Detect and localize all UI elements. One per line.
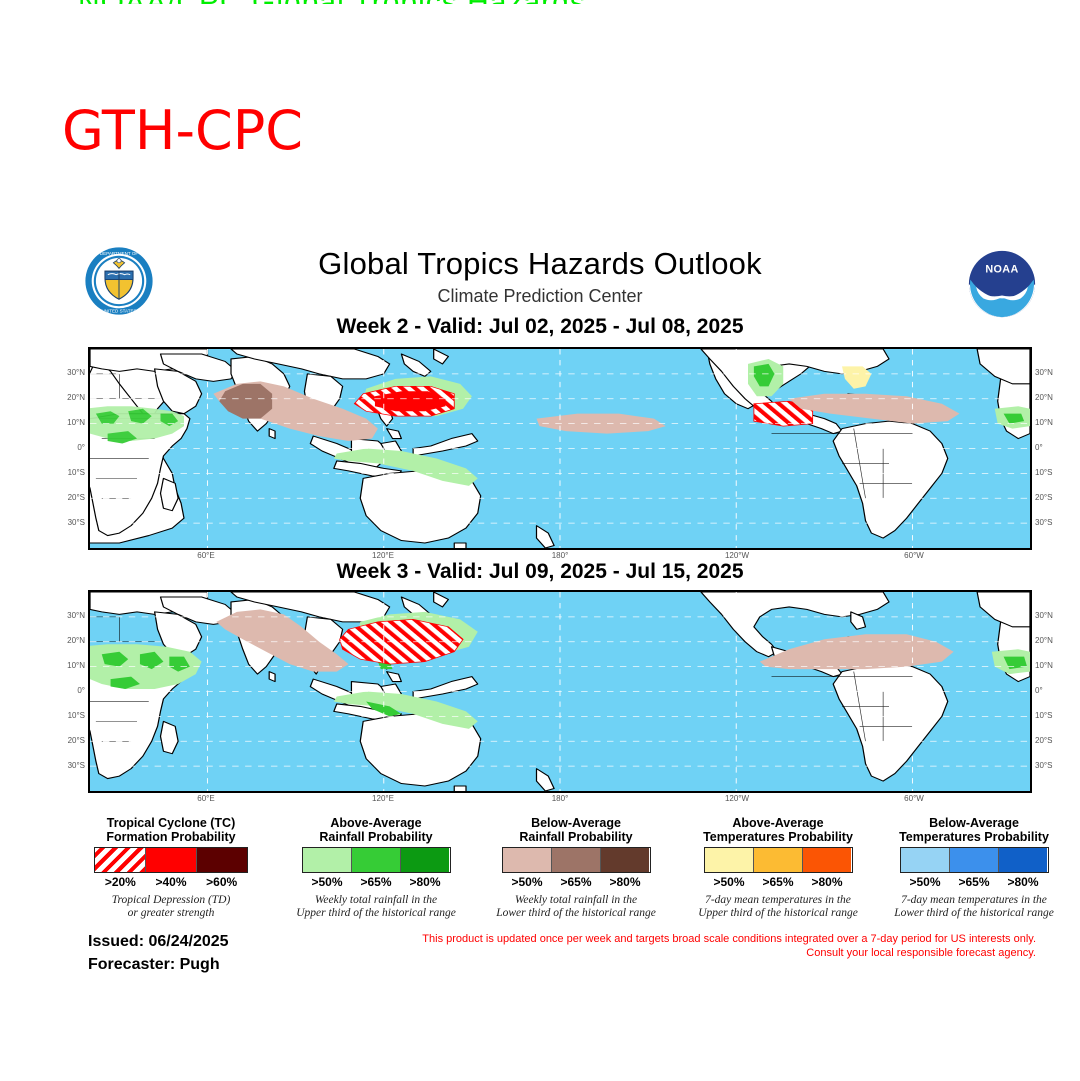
lon-label: 60°E xyxy=(197,551,214,560)
product-header: DEPARTMENT OF UNITED STATES Global Tropi… xyxy=(0,236,1080,341)
lat-label: 0° xyxy=(77,686,85,695)
legend-title-line2: Rainfall Probability xyxy=(268,830,484,844)
lat-label: 0° xyxy=(1035,686,1043,695)
svg-text:UNITED STATES: UNITED STATES xyxy=(101,309,136,314)
legend-title-line2: Rainfall Probability xyxy=(468,830,684,844)
legend-item-below-rainfall: Below-Average Rainfall Probability >50% … xyxy=(468,816,684,920)
week2-lat-labels-left: 30°N 20°N 10°N 0° 10°S 20°S 30°S xyxy=(60,347,86,550)
legend-colorbar-tc xyxy=(94,847,248,873)
lon-label: 60°W xyxy=(904,794,924,803)
legend-title-line1: Above-Average xyxy=(268,816,484,830)
issued-date: Issued: 06/24/2025 xyxy=(88,930,229,953)
legend-note-line1: Weekly total rainfall in the xyxy=(468,894,684,907)
legend-tick: >80% xyxy=(601,875,650,889)
lat-label: 0° xyxy=(77,443,85,452)
week3-lat-labels-left: 30°N 20°N 10°N 0° 10°S 20°S 30°S xyxy=(60,590,86,793)
week3-lat-labels-right: 30°N 20°N 10°N 0° 10°S 20°S 30°S xyxy=(1034,590,1064,793)
lat-label: 30°N xyxy=(1035,611,1053,620)
week2-panel-title: Week 2 - Valid: Jul 02, 2025 - Jul 08, 2… xyxy=(0,315,1080,339)
legend-tick: >50% xyxy=(303,875,352,889)
lat-label: 20°S xyxy=(68,736,85,745)
legend-ticks-below-rain: >50% >65% >80% xyxy=(503,875,650,889)
legend-swatch-rain-below-50 xyxy=(503,848,552,872)
week3-panel-title: Week 3 - Valid: Jul 09, 2025 - Jul 15, 2… xyxy=(0,560,1080,584)
legend-tick: >80% xyxy=(401,875,450,889)
noaa-logo-text: NOAA xyxy=(985,263,1018,275)
week3-map: 30°N 20°N 10°N 0° 10°S 20°S 30°S 30°N 20… xyxy=(88,590,1032,793)
legend-tick: >80% xyxy=(999,875,1048,889)
legend-tick: >65% xyxy=(950,875,999,889)
week3-map-canvas xyxy=(90,592,1030,791)
legend-tick: >20% xyxy=(95,875,146,889)
legend-swatch-rain-below-65 xyxy=(552,848,601,872)
legend-item-below-temperatures: Below-Average Temperatures Probability >… xyxy=(856,816,1080,920)
legend-tick: >60% xyxy=(196,875,247,889)
lat-label: 10°N xyxy=(67,418,85,427)
lat-label: 30°N xyxy=(67,368,85,377)
lat-label: 10°S xyxy=(1035,468,1052,477)
page-subtitle: Climate Prediction Center xyxy=(0,286,1080,307)
lat-label: 20°S xyxy=(1035,736,1052,745)
legend-tick: >50% xyxy=(901,875,950,889)
legend-tick: >65% xyxy=(352,875,401,889)
disclaimer: This product is updated once per week an… xyxy=(416,932,1036,960)
lat-label: 20°N xyxy=(1035,393,1053,402)
lat-label: 20°S xyxy=(68,493,85,502)
lat-label: 20°N xyxy=(67,393,85,402)
legend-colorbar-below-rain xyxy=(502,847,651,873)
legend-note-line1: 7-day mean temperatures in the xyxy=(856,894,1080,907)
week2-map-frame xyxy=(88,347,1032,550)
legend-note-line2: Upper third of the historical range xyxy=(268,907,484,920)
week3-lon-labels: 60°E 120°E 180° 120°W 60°W xyxy=(88,794,1032,808)
legend-swatch-rain-above-50 xyxy=(303,848,352,872)
legend-title-line1: Below-Average xyxy=(856,816,1080,830)
legend-note-line2: or greater strength xyxy=(78,907,264,920)
lon-label: 120°E xyxy=(372,551,394,560)
legend-ticks-above-temp: >50% >65% >80% xyxy=(705,875,852,889)
legend-note-line1: Weekly total rainfall in the xyxy=(268,894,484,907)
legend-tick: >50% xyxy=(503,875,552,889)
legend-swatch-temp-below-50 xyxy=(901,848,950,872)
forecaster-name: Forecaster: Pugh xyxy=(88,953,229,976)
legend-note-line2: Lower third of the historical range xyxy=(468,907,684,920)
legend-item-above-rainfall: Above-Average Rainfall Probability >50% … xyxy=(268,816,484,920)
lon-label: 60°W xyxy=(904,551,924,560)
lat-label: 10°S xyxy=(68,468,85,477)
noaa-logo-icon: NOAA xyxy=(966,248,1038,320)
lon-label: 120°W xyxy=(725,794,749,803)
lat-label: 10°S xyxy=(68,711,85,720)
legend-title-line1: Below-Average xyxy=(468,816,684,830)
legend-tick: >65% xyxy=(552,875,601,889)
footer: Issued: 06/24/2025 Forecaster: Pugh This… xyxy=(0,930,1080,996)
legend: Tropical Cyclone (TC) Formation Probabil… xyxy=(0,816,1080,926)
lat-label: 30°S xyxy=(68,761,85,770)
top-green-banner: NOAA/CPC Global Tropics Hazards Outlook xyxy=(78,0,588,4)
legend-title-line2: Temperatures Probability xyxy=(856,830,1080,844)
lon-label: 120°E xyxy=(372,794,394,803)
legend-swatch-temp-below-80 xyxy=(999,848,1047,872)
issued-block: Issued: 06/24/2025 Forecaster: Pugh xyxy=(88,930,229,976)
lat-label: 10°N xyxy=(67,661,85,670)
lon-label: 60°E xyxy=(197,794,214,803)
gth-cpc-heading: GTH-CPC xyxy=(62,104,303,158)
legend-tick: >40% xyxy=(146,875,197,889)
lat-label: 0° xyxy=(1035,443,1043,452)
lat-label: 30°N xyxy=(1035,368,1053,377)
lat-label: 20°S xyxy=(1035,493,1052,502)
legend-item-tc-formation: Tropical Cyclone (TC) Formation Probabil… xyxy=(78,816,264,920)
legend-tick: >50% xyxy=(705,875,754,889)
legend-swatch-temp-below-65 xyxy=(950,848,999,872)
lat-label: 10°N xyxy=(1035,661,1053,670)
lat-label: 30°S xyxy=(68,518,85,527)
legend-note-line1: Tropical Depression (TD) xyxy=(78,894,264,907)
lat-label: 30°S xyxy=(1035,761,1052,770)
legend-ticks-tc: >20% >40% >60% xyxy=(95,875,247,889)
legend-swatch-temp-above-65 xyxy=(754,848,803,872)
lon-label: 120°W xyxy=(725,551,749,560)
legend-ticks-below-temp: >50% >65% >80% xyxy=(901,875,1048,889)
lon-label: 180° xyxy=(552,551,569,560)
legend-title-line1: Tropical Cyclone (TC) xyxy=(78,816,264,830)
legend-swatch-temp-above-50 xyxy=(705,848,754,872)
legend-swatch-tc-40 xyxy=(146,848,197,872)
legend-ticks-above-rain: >50% >65% >80% xyxy=(303,875,450,889)
lat-label: 30°N xyxy=(67,611,85,620)
lon-label: 180° xyxy=(552,794,569,803)
lat-label: 10°N xyxy=(1035,418,1053,427)
legend-swatch-rain-above-80 xyxy=(401,848,449,872)
outlook-product-graphic: DEPARTMENT OF UNITED STATES Global Tropi… xyxy=(0,236,1080,996)
lat-label: 20°N xyxy=(67,636,85,645)
week2-map-canvas xyxy=(90,349,1030,548)
disclaimer-line-2: Consult your local responsible forecast … xyxy=(416,946,1036,960)
lat-label: 30°S xyxy=(1035,518,1052,527)
lat-label: 10°S xyxy=(1035,711,1052,720)
legend-swatch-tc-60 xyxy=(197,848,247,872)
legend-tick: >80% xyxy=(803,875,852,889)
week2-map: 30°N 20°N 10°N 0° 10°S 20°S 30°S 30°N 20… xyxy=(88,347,1032,550)
week2-lat-labels-right: 30°N 20°N 10°N 0° 10°S 20°S 30°S xyxy=(1034,347,1064,550)
legend-swatch-tc-20 xyxy=(95,848,146,872)
legend-swatch-rain-below-80 xyxy=(601,848,649,872)
legend-colorbar-below-temp xyxy=(900,847,1049,873)
legend-swatch-rain-above-65 xyxy=(352,848,401,872)
legend-colorbar-above-rain xyxy=(302,847,451,873)
legend-title-line2: Formation Probability xyxy=(78,830,264,844)
disclaimer-line-1: This product is updated once per week an… xyxy=(416,932,1036,946)
week3-map-frame xyxy=(88,590,1032,793)
legend-colorbar-above-temp xyxy=(704,847,853,873)
legend-note-line2: Lower third of the historical range xyxy=(856,907,1080,920)
page-title: Global Tropics Hazards Outlook xyxy=(0,246,1080,282)
legend-tick: >65% xyxy=(754,875,803,889)
lat-label: 20°N xyxy=(1035,636,1053,645)
legend-swatch-temp-above-80 xyxy=(803,848,851,872)
